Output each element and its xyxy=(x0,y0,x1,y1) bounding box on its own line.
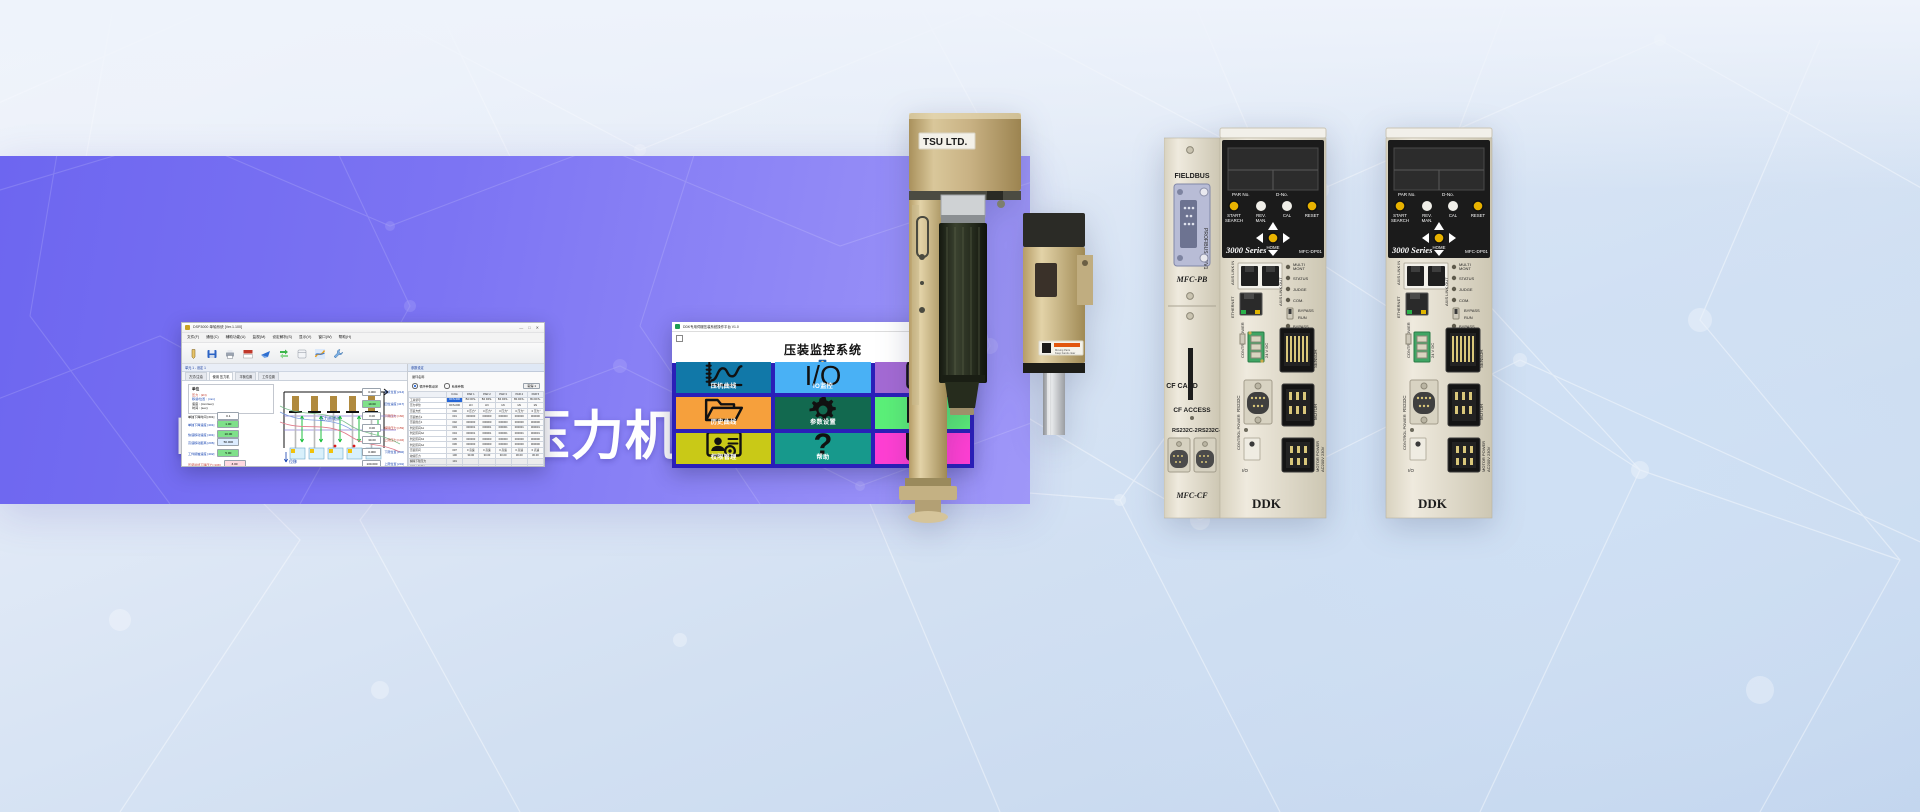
unit-legend-box: 单位 压力 : (kN) 移载/位置 : (mm) 速度 : (mm/sec) xyxy=(188,384,274,414)
svg-text:CF ACCESS: CF ACCESS xyxy=(1173,407,1211,414)
readout-value[interactable]: 30.00 xyxy=(362,436,381,444)
parameter-panel-title: 参数设定 xyxy=(411,365,424,370)
menu-item-help[interactable]: 帮助(H) xyxy=(339,335,352,340)
pc-toolbar xyxy=(182,343,544,364)
tab-mode[interactable]: 方式/注油 xyxy=(185,372,207,380)
table-row[interactable]: 解除上限压力102 xyxy=(409,464,544,467)
radio-cycle-params[interactable]: 循环参数设定 xyxy=(412,383,438,389)
svg-text:PROFIBUS DP/V1: PROFIBUS DP/V1 xyxy=(1202,228,1208,270)
menu-item-window[interactable]: 窗口(W) xyxy=(318,335,331,340)
svg-text:I/O: I/O xyxy=(1408,468,1414,473)
svg-text:JUDGE: JUDGE xyxy=(1459,287,1473,292)
svg-text:D-No.: D-No. xyxy=(1276,192,1288,197)
readout-row: 0.000原点位置 [214] xyxy=(362,388,404,396)
hmi-tile-folder-open[interactable]: 历史曲线 xyxy=(676,397,771,428)
readout-label: 回位速度 [417] xyxy=(384,402,404,406)
svg-text:HOME: HOME xyxy=(1267,245,1280,250)
readout-label: 下限压力 [160] xyxy=(384,414,404,418)
hmi-tile-label: 帮助 xyxy=(775,452,870,461)
parameter-options-row: 循环参数设定 系统参数 取得 1 xyxy=(408,381,544,391)
readout-row: 0.00下限压力 [160] xyxy=(362,412,404,420)
param-row: 快速移动速度 [401] 10.00 xyxy=(188,430,274,438)
readout-label: 上限压力 [104] xyxy=(384,438,404,442)
svg-text:位移: 位移 xyxy=(289,458,297,464)
user-icon[interactable] xyxy=(818,354,827,362)
table-cell[interactable]: 102 xyxy=(447,464,463,467)
param-row: 压装最终下降压力 [108] 3.00 xyxy=(188,460,274,467)
svg-text:SEARCH: SEARCH xyxy=(1391,218,1409,223)
radio-system-params-label: 系统参数 xyxy=(452,385,464,389)
svg-text:MFC-DP01: MFC-DP01 xyxy=(1465,249,1488,254)
radio-cycle-params-label: 循环参数设定 xyxy=(420,385,439,389)
sync-icon[interactable] xyxy=(278,347,290,359)
svg-text:RS232C-2: RS232C-2 xyxy=(1172,428,1198,434)
hmi-app-icon xyxy=(675,324,680,329)
hmi-tile-question-mark[interactable]: ?帮助 xyxy=(775,433,870,464)
hmi-tile-gear[interactable]: 参数设置 xyxy=(775,397,870,428)
pc-left-tabs: 方式/注油 使用 压力机 平衡位置 工件位置 xyxy=(182,372,407,381)
acquire-button[interactable]: 取得 1 xyxy=(523,383,540,389)
param-label: 单独下降时间 [301] xyxy=(188,414,214,419)
menu-item-comm[interactable]: 通信(C) xyxy=(206,335,219,340)
tab-press[interactable]: 使用 压力机 xyxy=(209,372,234,380)
readout-row: 0.00解除压力 [159] xyxy=(362,424,404,432)
pc-title-bar: DSP3000 单轴系统 [Ver.1.100] — □ ✕ xyxy=(182,323,544,333)
pc-left-subtitle: 单元 1 - 设定 1 xyxy=(182,364,407,372)
pc-window-title: DSP3000 单轴系统 [Ver.1.100] xyxy=(193,325,242,330)
table-cell[interactable] xyxy=(479,464,495,467)
maximize-button[interactable]: □ xyxy=(528,326,530,330)
cycle-name-row: 循环名称 xyxy=(408,372,544,381)
svg-text:MAN.: MAN. xyxy=(1422,218,1433,223)
readout-value[interactable]: 100.000 xyxy=(362,460,381,467)
svg-text:STATUS: STATUS xyxy=(1459,276,1475,281)
svg-text:TSU LTD.: TSU LTD. xyxy=(923,137,967,148)
readout-value[interactable]: 10.00 xyxy=(362,400,381,408)
parameter-table: D-No PAR 1 PAR 2 PAR 3 PAR 4 PAR 5 工具型号D… xyxy=(408,391,544,467)
table-cell[interactable] xyxy=(511,464,527,467)
svg-text:MOTOR: MOTOR xyxy=(1479,404,1484,420)
svg-text:Keep hands clear: Keep hands clear xyxy=(1055,351,1075,355)
svg-text:MOTOR: MOTOR xyxy=(1313,404,1318,420)
param-label: 单独下降速度 [401] xyxy=(188,422,214,427)
svg-text:AC200V 230V: AC200V 230V xyxy=(1320,446,1325,472)
hmi-tile-label: 权限管理 xyxy=(676,452,771,461)
svg-text:PAR No.: PAR No. xyxy=(1232,192,1250,197)
svg-text:AXIS LINK IN: AXIS LINK IN xyxy=(1230,261,1235,285)
menu-item-view[interactable]: 显示(V) xyxy=(299,335,311,340)
readout-row: 0.000下限位置 [202] xyxy=(362,448,404,456)
svg-text:JUDGE: JUDGE xyxy=(1293,287,1307,292)
svg-text:3000 Series: 3000 Series xyxy=(1225,245,1267,255)
svg-text:CONTROL POWER: CONTROL POWER xyxy=(1402,414,1407,450)
hmi-tile-user-permission[interactable]: 权限管理 xyxy=(676,433,771,464)
pc-left-subtitle-text: 单元 1 - 设定 1 xyxy=(185,365,206,370)
svg-text:ETHERNET: ETHERNET xyxy=(1230,296,1235,318)
readout-label: 下限位置 [202] xyxy=(384,450,404,454)
table-cell[interactable] xyxy=(495,464,511,467)
svg-text:BYPASS: BYPASS xyxy=(1298,308,1314,313)
svg-text:D-No.: D-No. xyxy=(1442,192,1454,197)
param-row: 高速移动距离 [206] 50.000 xyxy=(188,438,274,446)
menu-item-file[interactable]: 文件(F) xyxy=(187,335,199,340)
svg-text:DDK: DDK xyxy=(1252,496,1282,511)
readout-row: 100.000上限位置 [201] xyxy=(362,460,404,467)
svg-text:RS232C: RS232C xyxy=(1402,395,1407,412)
svg-text:STATUS: STATUS xyxy=(1293,276,1309,281)
svg-text:3000 Series: 3000 Series xyxy=(1391,245,1433,255)
svg-text:PAR No.: PAR No. xyxy=(1398,192,1416,197)
readout-label: 上限位置 [201] xyxy=(384,462,404,466)
tab-workpiece[interactable]: 工件位置 xyxy=(258,372,279,380)
pc-menu-bar: 文件(F) 通信(C) 辅助功能(U) 监视(M) 设定解析(S) 显示(V) … xyxy=(182,333,544,343)
svg-text:SENSOR: SENSOR xyxy=(1479,349,1484,368)
svg-text:RESET: RESET xyxy=(1471,213,1486,218)
unit-row-time: 时间 : (sec) xyxy=(192,406,270,410)
hmi-tile-io[interactable]: I/OIO监控 xyxy=(775,362,870,393)
svg-text:COM.: COM. xyxy=(1293,298,1303,303)
clock-icon[interactable] xyxy=(242,347,254,359)
readout-value[interactable]: 0.000 xyxy=(362,448,381,456)
menu-item-monitor[interactable]: 监视(M) xyxy=(252,335,265,340)
readout-row: 30.00上限压力 [104] xyxy=(362,436,404,444)
hmi-tile-label: 历史曲线 xyxy=(676,417,771,426)
table-cell[interactable] xyxy=(527,464,543,467)
svg-text:24 V DC: 24 V DC xyxy=(1430,343,1435,358)
svg-text:RESET: RESET xyxy=(1305,213,1320,218)
svg-text:AXIS LINK OUT: AXIS LINK OUT xyxy=(1444,277,1449,306)
svg-text:FIELDBUS: FIELDBUS xyxy=(1175,173,1210,180)
param-label: 快速移动速度 [401] xyxy=(188,432,214,437)
param-label: 压装最终下降压力 [108] xyxy=(188,462,221,467)
svg-text:COM.: COM. xyxy=(1459,298,1469,303)
pc-software-window: DSP3000 单轴系统 [Ver.1.100] — □ ✕ 文件(F) 通信(… xyxy=(181,322,545,467)
readout-value[interactable]: 0.00 xyxy=(362,424,381,432)
press-machine-photo: TSU LTD. xyxy=(895,105,1145,535)
hmi-window-title: DDK专用伺服压装系统操作平台 V1.0 xyxy=(683,324,739,329)
readout-label: 原点位置 [214] xyxy=(384,390,404,394)
svg-text:MFC-DP01: MFC-DP01 xyxy=(1299,249,1322,254)
svg-text:AC200V 230V: AC200V 230V xyxy=(1486,446,1491,472)
svg-text:AXIS LINK IN: AXIS LINK IN xyxy=(1396,261,1401,285)
close-button[interactable]: ✕ xyxy=(536,326,539,330)
pc-right-panel: 参数设定 循环名称 循环参数设定 系统参数 取得 1 D-No PAR 1 PA… xyxy=(408,364,544,467)
svg-text:CONTROL POWER: CONTROL POWER xyxy=(1236,414,1241,450)
pc-body: 单元 1 - 设定 1 方式/注油 使用 压力机 平衡位置 工件位置 单位 压力… xyxy=(182,364,544,467)
readout-row: 10.00回位速度 [417] xyxy=(362,400,404,408)
param-row: 单独下降速度 [401] 1.00 xyxy=(188,420,274,428)
menu-item-settings[interactable]: 设定解析(S) xyxy=(272,335,292,340)
svg-text:I/O: I/O xyxy=(1242,468,1248,473)
svg-text:MFC-PB: MFC-PB xyxy=(1176,275,1208,284)
tab-balance[interactable]: 平衡位置 xyxy=(235,372,256,380)
pc-window-buttons: — □ ✕ xyxy=(519,326,541,330)
svg-text:24 V DC: 24 V DC xyxy=(1264,343,1269,358)
save-icon[interactable] xyxy=(206,347,218,359)
send-icon[interactable] xyxy=(260,347,272,359)
svg-text:CF CARD: CF CARD xyxy=(1166,383,1198,390)
svg-text:ETHERNET: ETHERNET xyxy=(1396,296,1401,318)
param-value[interactable]: 3.00 xyxy=(224,460,246,467)
radio-system-params[interactable]: 系统参数 xyxy=(444,383,464,389)
param-value[interactable]: 5.00 xyxy=(217,449,239,457)
svg-text:压力曲线点: 压力曲线点 xyxy=(320,415,340,421)
param-value[interactable]: 10.00 xyxy=(217,430,239,438)
svg-text:RUN: RUN xyxy=(1464,315,1473,320)
readout-label: 解除压力 [159] xyxy=(384,426,404,430)
hmi-tile-chart-curve[interactable]: 压机曲线 xyxy=(676,362,771,393)
readout-value[interactable]: 0.00 xyxy=(362,412,381,420)
param-row: 工件接触速度 [402] 5.00 xyxy=(188,449,274,457)
svg-text:AXIS LINK OUT: AXIS LINK OUT xyxy=(1278,277,1283,306)
svg-text:MAN.: MAN. xyxy=(1256,218,1267,223)
app-icon xyxy=(185,325,190,330)
svg-text:RS232C: RS232C xyxy=(1236,395,1241,412)
readout-value[interactable]: 0.000 xyxy=(362,388,381,396)
svg-text:SENSOR: SENSOR xyxy=(1313,349,1318,368)
print-icon[interactable] xyxy=(224,347,236,359)
svg-text:SEARCH: SEARCH xyxy=(1225,218,1243,223)
svg-text:CAL: CAL xyxy=(1283,213,1292,218)
hmi-tile-label: 压机曲线 xyxy=(676,381,771,390)
svg-text:CAL: CAL xyxy=(1449,213,1458,218)
new-icon[interactable] xyxy=(188,347,200,359)
svg-text:RUN: RUN xyxy=(1298,315,1307,320)
svg-text:MONT: MONT xyxy=(1459,266,1471,271)
hmi-tile-label: IO监控 xyxy=(775,381,870,390)
cycle-name-label: 循环名称 xyxy=(412,374,424,379)
svg-text:MONT: MONT xyxy=(1293,266,1305,271)
servo-driver-2: PAR No. D-No. STARTSEARCH REV.MAN. CALRE… xyxy=(1330,120,1506,520)
tool-icon[interactable] xyxy=(332,347,344,359)
svg-text:HOME: HOME xyxy=(1433,245,1446,250)
unit-legend-heading: 单位 xyxy=(192,387,270,392)
svg-text:DDK: DDK xyxy=(1418,496,1448,511)
banner-stage: DSP3000系列压力机 DSP3000 单轴系统 [Ver.1.100] — … xyxy=(0,0,1920,812)
menu-item-utility[interactable]: 辅助功能(U) xyxy=(226,335,246,340)
svg-text:BYPASS: BYPASS xyxy=(1464,308,1480,313)
param-value[interactable]: 0.1 xyxy=(217,412,239,420)
window-icon[interactable] xyxy=(296,347,308,359)
servo-driver-1: FIELDBUS PROFIBUS DP/V1 MFC-PB CF CARD C… xyxy=(1164,120,1340,520)
pc-left-panel: 单元 1 - 设定 1 方式/注油 使用 压力机 平衡位置 工件位置 单位 压力… xyxy=(182,364,408,467)
table-body: 工具型号DFS-300B4 DFS-B4 DFS-B4 DFS-B4 DFS-B… xyxy=(409,397,544,467)
param-value[interactable]: 50.000 xyxy=(217,438,239,446)
svg-text:MFC-CF: MFC-CF xyxy=(1175,491,1208,500)
param-label: 工件接触速度 [402] xyxy=(188,451,214,456)
minimize-button[interactable]: — xyxy=(519,326,523,330)
parameter-panel-header: 参数设定 xyxy=(408,364,544,372)
readout-column: 0.000原点位置 [214] 10.00回位速度 [417] 0.00下限压力… xyxy=(362,388,404,467)
table-cell[interactable] xyxy=(463,464,479,467)
table-cell-label: 解除上限压力 xyxy=(409,464,447,467)
param-row: 单独下降时间 [301] 0.1 xyxy=(188,412,274,420)
param-value[interactable]: 1.00 xyxy=(217,420,239,428)
curve-icon[interactable] xyxy=(314,347,326,359)
hmi-tile-label: 参数设置 xyxy=(775,417,870,426)
param-label: 高速移动距离 [206] xyxy=(188,440,214,445)
